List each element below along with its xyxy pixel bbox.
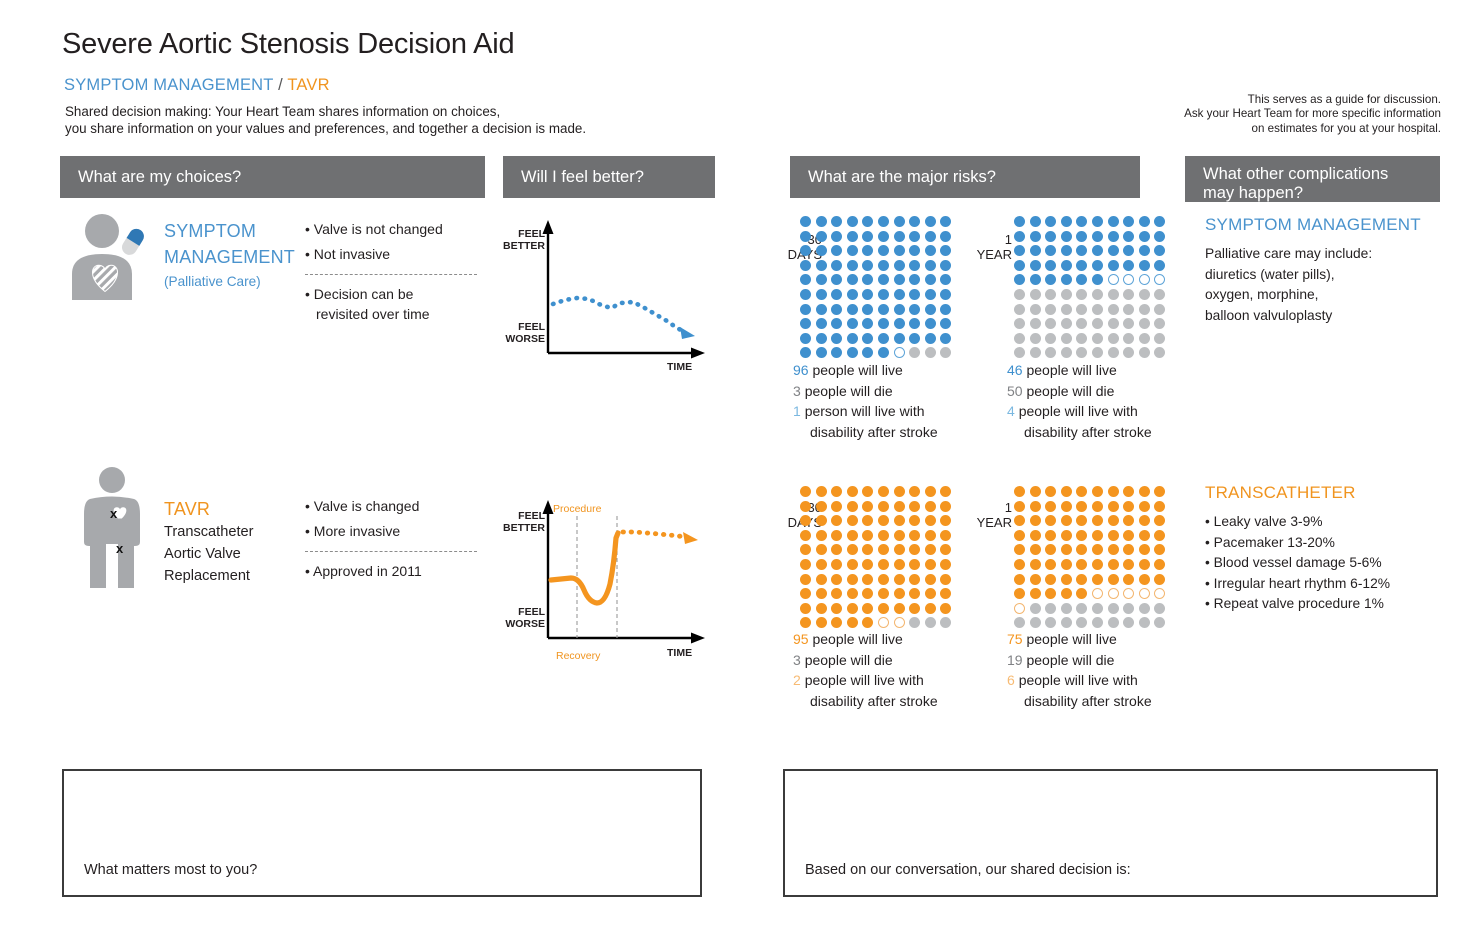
- risk-stat-text: people will live: [1026, 631, 1116, 647]
- dot-filled: [847, 318, 858, 329]
- dot-gray: [1014, 318, 1025, 329]
- risk-stat-number: 2: [793, 672, 805, 688]
- sm-bullets-divider: [305, 274, 477, 275]
- dot-filled: [1045, 216, 1056, 227]
- dot-filled: [1030, 260, 1041, 271]
- dot-filled: [831, 515, 842, 526]
- dot-filled: [831, 501, 842, 512]
- page-title: Severe Aortic Stenosis Decision Aid: [62, 28, 514, 61]
- compl-tavr-item-1: • Leaky valve 3-9%: [1205, 512, 1390, 533]
- dot-gray: [1092, 617, 1103, 628]
- dot-filled: [1045, 231, 1056, 242]
- dot-filled: [1045, 245, 1056, 256]
- dot-gray: [1092, 333, 1103, 344]
- dot-gray: [1030, 333, 1041, 344]
- risk-stat-number: 95: [793, 631, 812, 647]
- dot-filled: [940, 486, 951, 497]
- dot-filled: [847, 544, 858, 555]
- dot-filled: [940, 530, 951, 541]
- dot-gray: [1108, 347, 1119, 358]
- dot-gray: [1108, 617, 1119, 628]
- risk-stat-line: 1 person will live with: [793, 401, 938, 422]
- risk-stat-number: 19: [1007, 652, 1026, 668]
- dot-filled: [1061, 530, 1072, 541]
- dot-filled: [1139, 574, 1150, 585]
- dot-filled: [1108, 486, 1119, 497]
- option-sm-name-line-1: SYMPTOM: [164, 218, 295, 244]
- dot-filled: [1014, 574, 1025, 585]
- sm-chart-axis-label-feel-better: FEEL BETTER: [497, 229, 545, 252]
- dot-gray: [1123, 617, 1134, 628]
- dot-filled: [1076, 501, 1087, 512]
- dot-hollow: [894, 347, 905, 358]
- dot-hollow: [1123, 274, 1134, 285]
- dot-gray: [1076, 617, 1087, 628]
- subtitle-option-symptom-management: SYMPTOM MANAGEMENT: [64, 76, 273, 94]
- option-tavr-name: TAVR: [164, 496, 210, 522]
- dot-filled: [1092, 544, 1103, 555]
- dot-filled: [800, 530, 811, 541]
- dot-filled: [894, 289, 905, 300]
- risk-stat-line: 46 people will live: [1007, 360, 1152, 381]
- dot-gray: [1014, 617, 1025, 628]
- dot-gray: [1154, 347, 1165, 358]
- dot-filled: [1014, 231, 1025, 242]
- dot-filled: [894, 304, 905, 315]
- dot-filled: [925, 530, 936, 541]
- dot-filled: [894, 544, 905, 555]
- dot-filled: [940, 216, 951, 227]
- dot-gray: [1076, 304, 1087, 315]
- dot-filled: [909, 304, 920, 315]
- dot-filled: [894, 603, 905, 614]
- sm-feel-better-l1: FEEL: [497, 229, 545, 241]
- disclaimer-line-3: on estimates for you at your hospital.: [1141, 122, 1441, 136]
- dot-hollow: [894, 617, 905, 628]
- dot-filled: [847, 574, 858, 585]
- tavr-chart-axis-label-time: TIME: [667, 648, 707, 660]
- option-sm-name-line-2: MANAGEMENT: [164, 244, 295, 270]
- dot-gray: [1154, 333, 1165, 344]
- sm-feel-worse-l2: WORSE: [497, 334, 545, 346]
- dot-filled: [1092, 216, 1103, 227]
- dot-filled: [1154, 559, 1165, 570]
- dot-filled: [925, 318, 936, 329]
- dot-filled: [925, 603, 936, 614]
- dot-filled: [800, 245, 811, 256]
- subtitle-separator: /: [278, 76, 283, 94]
- dot-filled: [909, 245, 920, 256]
- dot-filled: [862, 515, 873, 526]
- dot-filled: [816, 588, 827, 599]
- risk-stat-number: 1: [793, 403, 805, 419]
- dot-filled: [831, 245, 842, 256]
- dot-filled: [1123, 501, 1134, 512]
- dot-gray: [1139, 304, 1150, 315]
- dot-filled: [878, 231, 889, 242]
- dot-gray: [925, 617, 936, 628]
- dot-gray: [1154, 289, 1165, 300]
- dot-filled: [831, 274, 842, 285]
- dot-filled: [1092, 245, 1103, 256]
- dot-gray: [1076, 333, 1087, 344]
- dot-filled: [1076, 274, 1087, 285]
- risk-stat-line: 96 people will live: [793, 360, 938, 381]
- dot-gray: [1030, 617, 1041, 628]
- dot-filled: [800, 501, 811, 512]
- sm-bullet-1: • Valve is not changed: [305, 217, 477, 242]
- dot-filled: [1123, 559, 1134, 570]
- dot-filled: [862, 304, 873, 315]
- dot-filled: [1076, 559, 1087, 570]
- dot-filled: [1045, 574, 1056, 585]
- dot-filled: [940, 274, 951, 285]
- dot-filled: [894, 333, 905, 344]
- dot-filled: [816, 216, 827, 227]
- dot-gray: [1108, 318, 1119, 329]
- dot-filled: [1061, 274, 1072, 285]
- dot-filled: [909, 216, 920, 227]
- dot-filled: [831, 530, 842, 541]
- tv1y-period-l2: YEAR: [952, 515, 1012, 530]
- dot-filled: [847, 501, 858, 512]
- dot-filled: [1123, 231, 1134, 242]
- dot-filled: [1123, 216, 1134, 227]
- risk-stat-text-continued: disability after stroke: [1007, 422, 1152, 443]
- dot-gray: [1092, 289, 1103, 300]
- dot-filled: [800, 304, 811, 315]
- dot-filled: [1014, 515, 1025, 526]
- dot-filled: [1139, 559, 1150, 570]
- risk-stat-line: 75 people will live: [1007, 629, 1152, 650]
- dot-filled: [1108, 501, 1119, 512]
- dot-filled: [1076, 231, 1087, 242]
- dot-filled: [1014, 216, 1025, 227]
- dot-gray: [1014, 289, 1025, 300]
- dot-filled: [1139, 501, 1150, 512]
- dot-filled: [1092, 260, 1103, 271]
- what-matters-most-box[interactable]: What matters most to you?: [62, 769, 702, 897]
- dot-filled: [1108, 260, 1119, 271]
- dot-gray: [1061, 603, 1072, 614]
- dot-filled: [1061, 216, 1072, 227]
- risk-stats-sm-1-year: 46 people will live50 people will die4 p…: [1007, 360, 1152, 442]
- dot-filled: [925, 515, 936, 526]
- dot-filled: [847, 588, 858, 599]
- dot-filled: [1030, 544, 1041, 555]
- dot-filled: [816, 603, 827, 614]
- dot-filled: [1045, 501, 1056, 512]
- dot-gray: [1030, 603, 1041, 614]
- dot-gray: [1154, 603, 1165, 614]
- dot-gray: [1030, 304, 1041, 315]
- dot-gray: [1045, 333, 1056, 344]
- section-header-feel-better: Will I feel better?: [503, 156, 715, 198]
- dot-filled: [940, 544, 951, 555]
- dot-hollow: [1154, 274, 1165, 285]
- sm-chart-axis-label-time: TIME: [667, 362, 707, 374]
- tavr-feel-worse-l1: FEEL: [497, 607, 545, 619]
- dot-filled: [1076, 245, 1087, 256]
- dot-filled: [847, 274, 858, 285]
- dot-filled: [1076, 216, 1087, 227]
- dot-filled: [862, 617, 873, 628]
- dot-filled: [831, 603, 842, 614]
- dot-hollow: [1139, 274, 1150, 285]
- dot-gray: [1154, 617, 1165, 628]
- dot-gray: [1045, 603, 1056, 614]
- risk-stat-text-continued: disability after stroke: [1007, 691, 1152, 712]
- dot-filled: [831, 231, 842, 242]
- dot-filled: [816, 574, 827, 585]
- dot-filled: [1014, 559, 1025, 570]
- dot-filled: [1014, 501, 1025, 512]
- dot-gray: [1139, 333, 1150, 344]
- dot-filled: [862, 333, 873, 344]
- dot-filled: [1154, 530, 1165, 541]
- risk-stat-line: 3 people will die: [793, 650, 938, 671]
- dot-filled: [847, 617, 858, 628]
- dot-filled: [1030, 486, 1041, 497]
- dot-filled: [1045, 515, 1056, 526]
- risk-stat-line: 4 people will live with: [1007, 401, 1152, 422]
- compl-tavr-item-4: • Irregular heart rhythm 6-12%: [1205, 574, 1390, 595]
- dot-gray: [909, 617, 920, 628]
- dot-filled: [925, 588, 936, 599]
- dot-filled: [1154, 574, 1165, 585]
- dot-hollow: [1123, 588, 1134, 599]
- dot-hollow: [878, 617, 889, 628]
- dot-filled: [1139, 530, 1150, 541]
- dot-filled: [925, 501, 936, 512]
- dot-filled: [831, 574, 842, 585]
- dot-filled: [831, 347, 842, 358]
- complications-header-line-1: What other complications: [1203, 165, 1440, 184]
- dot-filled: [1045, 530, 1056, 541]
- tavr-feel-worse-l2: WORSE: [497, 619, 545, 631]
- dot-gray: [1061, 333, 1072, 344]
- risk-stats-tavr-30-days: 95 people will live3 people will die2 pe…: [793, 629, 938, 711]
- dot-gray: [1030, 347, 1041, 358]
- dot-filled: [894, 231, 905, 242]
- dot-filled: [1061, 559, 1072, 570]
- dot-filled: [909, 260, 920, 271]
- dot-filled: [894, 501, 905, 512]
- dot-filled: [800, 574, 811, 585]
- dot-filled: [940, 231, 951, 242]
- dot-filled: [800, 318, 811, 329]
- dot-filled: [878, 515, 889, 526]
- dot-filled: [1076, 486, 1087, 497]
- option-symptom-management-bullets: • Valve is not changed • Not invasive • …: [305, 217, 477, 324]
- dot-filled: [862, 588, 873, 599]
- dot-gray: [1108, 289, 1119, 300]
- risk-stat-number: 75: [1007, 631, 1026, 647]
- dot-gray: [1139, 347, 1150, 358]
- dot-filled: [909, 289, 920, 300]
- dot-filled: [925, 216, 936, 227]
- dot-filled: [862, 216, 873, 227]
- dot-filled: [1030, 574, 1041, 585]
- risk-stat-text: people will die: [1026, 652, 1114, 668]
- dot-filled: [847, 603, 858, 614]
- dot-filled: [1061, 501, 1072, 512]
- dot-filled: [878, 603, 889, 614]
- tavr-bullet-3: • Approved in 2011: [305, 561, 477, 581]
- dot-gray: [1139, 289, 1150, 300]
- disclaimer-text: This serves as a guide for discussion. A…: [1141, 93, 1441, 136]
- section-header-major-risks: What are the major risks?: [790, 156, 1140, 198]
- tavr-sub-line-3: Replacement: [164, 565, 254, 587]
- risk-stat-text: people will die: [805, 383, 893, 399]
- risk-dot-grid-sm-30-days: [800, 216, 956, 362]
- dot-filled: [816, 304, 827, 315]
- dot-gray: [1030, 318, 1041, 329]
- dot-filled: [940, 333, 951, 344]
- dot-filled: [940, 289, 951, 300]
- dot-filled: [909, 574, 920, 585]
- dot-filled: [1123, 260, 1134, 271]
- dot-filled: [1123, 530, 1134, 541]
- dot-filled: [940, 318, 951, 329]
- dot-filled: [909, 603, 920, 614]
- dot-filled: [925, 559, 936, 570]
- dot-filled: [1092, 559, 1103, 570]
- sm-feel-better-l2: BETTER: [497, 241, 545, 253]
- dot-filled: [925, 289, 936, 300]
- dot-filled: [847, 515, 858, 526]
- disclaimer-line-2: Ask your Heart Team for more specific in…: [1141, 107, 1441, 121]
- intro-line-1: Shared decision making: Your Heart Team …: [65, 103, 586, 120]
- dot-filled: [816, 347, 827, 358]
- dot-filled: [1108, 559, 1119, 570]
- dot-gray: [1014, 347, 1025, 358]
- dot-gray: [1108, 603, 1119, 614]
- dot-filled: [847, 559, 858, 570]
- dot-filled: [940, 501, 951, 512]
- dot-filled: [800, 588, 811, 599]
- dot-filled: [816, 289, 827, 300]
- dot-filled: [925, 304, 936, 315]
- dot-filled: [1061, 486, 1072, 497]
- dot-filled: [831, 559, 842, 570]
- tavr-sub-line-1: Transcatheter: [164, 521, 254, 543]
- dot-gray: [1061, 289, 1072, 300]
- risk-dot-grid-tavr-30-days: [800, 486, 956, 632]
- dot-filled: [800, 544, 811, 555]
- dot-filled: [816, 617, 827, 628]
- dot-filled: [1154, 501, 1165, 512]
- risk-stat-text: person will live with: [805, 403, 925, 419]
- dot-gray: [1108, 333, 1119, 344]
- dot-filled: [878, 318, 889, 329]
- dot-filled: [847, 304, 858, 315]
- dot-filled: [940, 245, 951, 256]
- dot-filled: [1108, 530, 1119, 541]
- dot-filled: [1030, 274, 1041, 285]
- sm1y-period-l2: YEAR: [952, 247, 1012, 262]
- dot-filled: [1076, 515, 1087, 526]
- dot-hollow: [1108, 588, 1119, 599]
- dot-filled: [1030, 501, 1041, 512]
- dot-filled: [878, 333, 889, 344]
- dot-filled: [1154, 260, 1165, 271]
- dot-gray: [1076, 347, 1087, 358]
- dot-filled: [1030, 530, 1041, 541]
- dot-filled: [1123, 574, 1134, 585]
- dot-filled: [878, 501, 889, 512]
- dot-filled: [831, 617, 842, 628]
- dot-filled: [909, 530, 920, 541]
- dot-filled: [800, 347, 811, 358]
- subtitle-option-tavr: TAVR: [287, 76, 329, 94]
- dot-filled: [1030, 245, 1041, 256]
- compl-tavr-item-5: • Repeat valve procedure 1%: [1205, 594, 1390, 615]
- risk-stat-number: 96: [793, 362, 812, 378]
- dot-filled: [940, 588, 951, 599]
- dot-filled: [940, 574, 951, 585]
- dot-filled: [925, 274, 936, 285]
- dot-filled: [847, 289, 858, 300]
- dot-gray: [1108, 304, 1119, 315]
- risk-stat-line: 2 people will live with: [793, 670, 938, 691]
- dot-filled: [862, 347, 873, 358]
- dot-filled: [878, 588, 889, 599]
- dot-filled: [847, 333, 858, 344]
- risk-stat-line: 6 people will live with: [1007, 670, 1152, 691]
- dot-filled: [1030, 588, 1041, 599]
- risk-period-label-tavr-1-year: 1 YEAR: [952, 500, 1012, 530]
- dot-filled: [909, 515, 920, 526]
- dot-gray: [1061, 304, 1072, 315]
- dot-filled: [1014, 260, 1025, 271]
- dot-filled: [831, 486, 842, 497]
- dot-filled: [940, 559, 951, 570]
- dot-filled: [1061, 544, 1072, 555]
- dot-filled: [1092, 574, 1103, 585]
- tavr-chart-recovery-label: Recovery: [556, 650, 600, 662]
- dot-gray: [909, 347, 920, 358]
- dot-filled: [862, 260, 873, 271]
- dot-filled: [816, 544, 827, 555]
- dot-filled: [1139, 515, 1150, 526]
- dot-filled: [1030, 559, 1041, 570]
- risk-stat-text-continued: disability after stroke: [793, 691, 938, 712]
- shared-decision-box[interactable]: Based on our conversation, our shared de…: [783, 769, 1438, 897]
- dot-filled: [1108, 231, 1119, 242]
- risk-stat-text: people will live with: [1019, 672, 1138, 688]
- dot-filled: [1092, 530, 1103, 541]
- dot-filled: [816, 486, 827, 497]
- risk-stat-number: 46: [1007, 362, 1026, 378]
- dot-filled: [862, 245, 873, 256]
- dot-gray: [1092, 304, 1103, 315]
- section-header-complications: What other complications may happen?: [1185, 156, 1440, 202]
- risk-stat-text: people will live: [812, 362, 902, 378]
- sm-bullet-3-line-1: • Decision can be: [305, 284, 477, 304]
- dot-filled: [1139, 486, 1150, 497]
- dot-gray: [1123, 304, 1134, 315]
- page-subtitle: SYMPTOM MANAGEMENT / TAVR: [64, 76, 330, 95]
- risk-stat-line: 19 people will die: [1007, 650, 1152, 671]
- dot-filled: [1045, 559, 1056, 570]
- dot-filled: [800, 617, 811, 628]
- tavr-chart-axis-label-feel-better: FEEL BETTER: [497, 511, 545, 534]
- dot-filled: [894, 530, 905, 541]
- dot-filled: [800, 486, 811, 497]
- dot-filled: [925, 574, 936, 585]
- dot-filled: [1061, 245, 1072, 256]
